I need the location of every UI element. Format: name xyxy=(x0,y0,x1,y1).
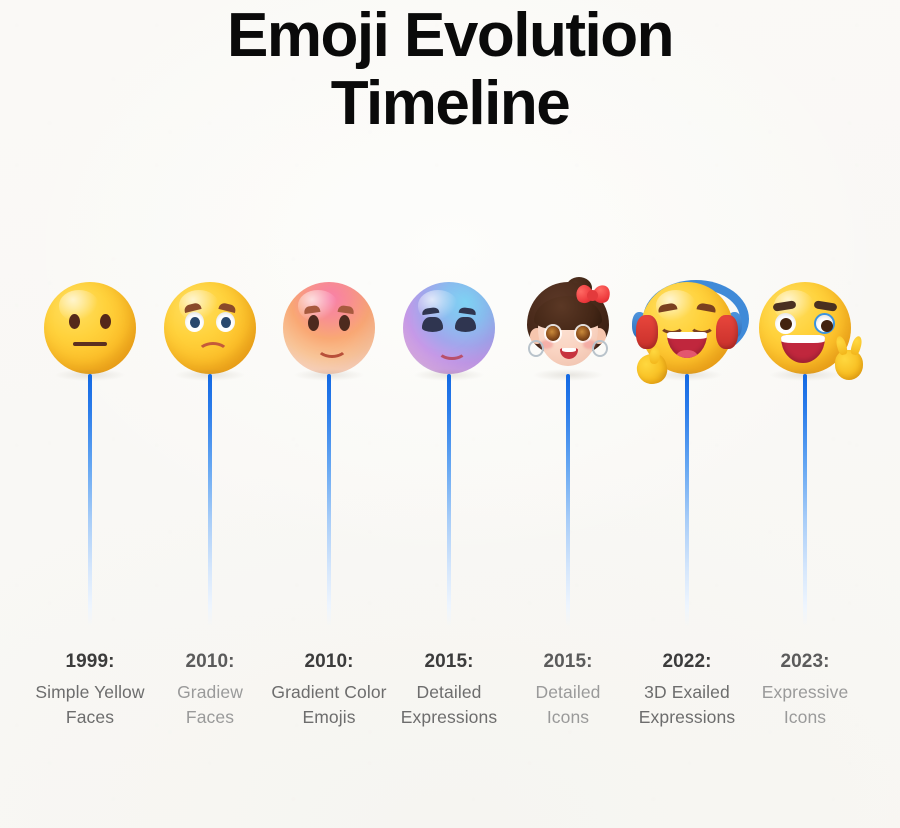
timeline-label: 2010: Gradiew Faces xyxy=(145,634,275,730)
emoji-sphere xyxy=(283,282,375,374)
left-eye xyxy=(69,314,80,329)
right-pupil xyxy=(821,320,833,332)
timeline-tick-line xyxy=(566,374,570,626)
mouth xyxy=(437,340,467,360)
tick-wrap xyxy=(271,374,387,634)
left-eye xyxy=(185,312,204,332)
tick-wrap xyxy=(629,374,745,634)
timeline-node-7[interactable]: 2023: Expressive Icons xyxy=(747,248,863,768)
timeline-year: 2010: xyxy=(145,650,275,674)
timeline-description: 3D Exailed Expressions xyxy=(622,680,752,730)
emoji-slot xyxy=(32,248,148,374)
face-with-headphones-emoji xyxy=(641,282,733,374)
emoji-slot xyxy=(152,248,268,374)
timeline-tick-line xyxy=(447,374,451,626)
right-hoop-earring xyxy=(592,340,608,357)
mouth xyxy=(316,336,348,358)
face-with-peace-sign-emoji xyxy=(759,282,851,374)
left-hoop-earring xyxy=(528,340,544,357)
emoji-slot xyxy=(629,248,745,374)
timeline-description: Detailed Expressions xyxy=(384,680,514,730)
girl-with-red-bow-emoji xyxy=(522,282,614,374)
peace-finger-two xyxy=(850,335,864,356)
timeline-label: 2015: Detailed Icons xyxy=(503,634,633,730)
timeline-year: 2010: xyxy=(264,650,394,674)
tick-wrap xyxy=(747,374,863,634)
timeline-year: 1999: xyxy=(25,650,155,674)
timeline-tick-line xyxy=(327,374,331,626)
timeline-tick-line xyxy=(803,374,807,626)
timeline: 1999: Simple Yellow Faces 2010: xyxy=(0,248,900,768)
timeline-year: 2015: xyxy=(503,650,633,674)
timeline-tick-line xyxy=(208,374,212,626)
timeline-label: 2022: 3D Exailed Expressions xyxy=(622,634,752,730)
timeline-node-3[interactable]: 2010: Gradient Color Emojis xyxy=(271,248,387,768)
timeline-node-2[interactable]: 2010: Gradiew Faces xyxy=(152,248,268,768)
timeline-tick-line xyxy=(88,374,92,626)
emoji-sphere xyxy=(44,282,136,374)
left-eye xyxy=(775,313,796,334)
timeline-node-5[interactable]: 2015: Detailed Icons xyxy=(510,248,626,768)
neutral-yellow-face-emoji xyxy=(44,282,136,374)
mouth xyxy=(197,342,229,364)
right-eye xyxy=(216,312,235,332)
timeline-description: Detailed Icons xyxy=(503,680,633,730)
emoji-slot xyxy=(271,248,387,374)
timeline-label: 2010: Gradient Color Emojis xyxy=(264,634,394,730)
emoji-evolution-poster: Emoji Evolution Timeline 1999: Simple Ye… xyxy=(0,0,900,828)
timeline-description: Gradient Color Emojis xyxy=(264,680,394,730)
worried-yellow-face-emoji xyxy=(164,282,256,374)
right-eye xyxy=(814,313,835,334)
tick-wrap xyxy=(510,374,626,634)
timeline-year: 2022: xyxy=(622,650,752,674)
headphone-right-cup xyxy=(716,315,738,349)
cool-gradient-smirking-face-emoji xyxy=(403,282,495,374)
timeline-tick-line xyxy=(685,374,689,626)
timeline-label: 2015: Detailed Expressions xyxy=(384,634,514,730)
left-eye xyxy=(546,326,560,341)
red-bow-icon xyxy=(576,284,610,306)
tick-wrap xyxy=(391,374,507,634)
tick-wrap xyxy=(32,374,148,634)
right-eye xyxy=(576,326,590,341)
right-eye xyxy=(339,315,350,331)
timeline-description: Simple Yellow Faces xyxy=(25,680,155,730)
timeline-label: 1999: Simple Yellow Faces xyxy=(25,634,155,730)
timeline-description: Gradiew Faces xyxy=(145,680,275,730)
timeline-node-4[interactable]: 2015: Detailed Expressions xyxy=(391,248,507,768)
headphone-left-cup xyxy=(636,315,658,349)
timeline-year: 2015: xyxy=(384,650,514,674)
timeline-description: Expressive Icons xyxy=(740,680,870,730)
page-title: Emoji Evolution Timeline xyxy=(0,2,900,138)
emoji-sphere xyxy=(403,282,495,374)
left-pupil xyxy=(190,317,200,328)
emoji-slot xyxy=(510,248,626,374)
bow-knot xyxy=(587,290,598,301)
warm-gradient-smiling-face-emoji xyxy=(283,282,375,374)
left-pupil xyxy=(780,318,792,330)
tick-wrap xyxy=(152,374,268,634)
timeline-node-1[interactable]: 1999: Simple Yellow Faces xyxy=(32,248,148,768)
timeline-node-6[interactable]: 2022: 3D Exailed Expressions xyxy=(629,248,745,768)
emoji-slot xyxy=(747,248,863,374)
timeline-year: 2023: xyxy=(740,650,870,674)
right-eye xyxy=(455,317,476,332)
emoji-slot xyxy=(391,248,507,374)
right-eye xyxy=(100,314,111,329)
right-pupil xyxy=(221,317,231,328)
mouth xyxy=(73,342,107,346)
left-eye xyxy=(422,317,443,332)
timeline-label: 2023: Expressive Icons xyxy=(740,634,870,730)
left-eye xyxy=(308,315,319,331)
